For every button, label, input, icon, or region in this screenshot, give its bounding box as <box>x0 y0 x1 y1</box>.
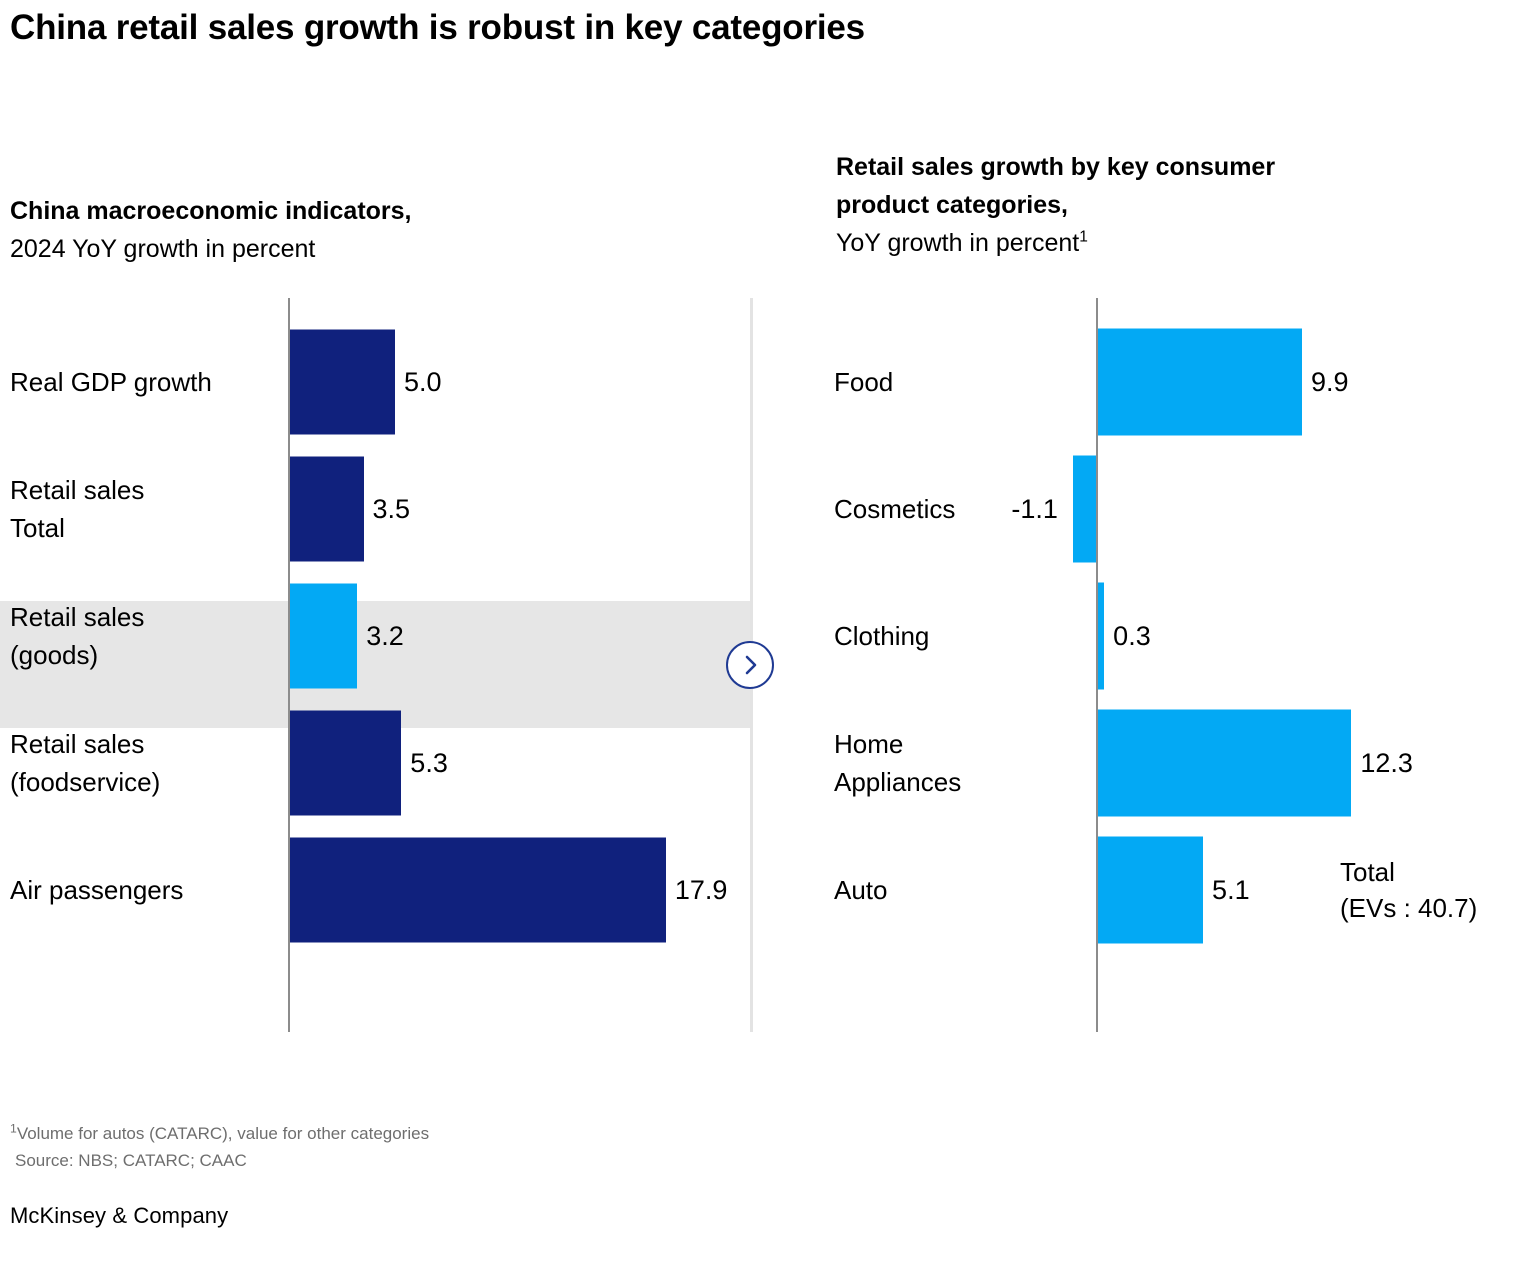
right-chart-heading-bold-line2: product categories, <box>836 186 1456 224</box>
bar <box>1073 455 1096 562</box>
bar <box>290 837 666 942</box>
category-label: Home Appliances <box>834 725 961 801</box>
right-bar-chart: Food9.9Cosmetics-1.1Clothing0.3Home Appl… <box>820 296 1536 1032</box>
bar-value-label: 3.5 <box>373 494 411 524</box>
left-chart-heading: China macroeconomic indicators, 2024 YoY… <box>10 192 630 268</box>
footnote-source: Source: NBS; CATARC; CAAC <box>10 1147 429 1174</box>
left-bar-chart: Real GDP growth5.0Retail sales Total3.5R… <box>0 296 790 1032</box>
bar <box>1098 582 1104 689</box>
chart-row: Home Appliances12.3 <box>820 699 1536 826</box>
page-title: China retail sales growth is robust in k… <box>10 8 865 48</box>
category-label: Retail sales (goods) <box>10 598 144 674</box>
bar-value-label: 3.2 <box>366 621 404 651</box>
bar-value-label: 5.0 <box>404 367 442 397</box>
footnote-note-text: Volume for autos (CATARC), value for oth… <box>17 1124 429 1143</box>
bar-value-label: 9.9 <box>1311 367 1349 397</box>
category-label: Clothing <box>834 617 929 655</box>
chart-row: Retail sales (foodservice)5.3 <box>0 699 790 826</box>
category-label: Cosmetics <box>834 490 955 528</box>
right-chart-heading-footnote-marker: 1 <box>1079 229 1088 246</box>
bar-value-label: 12.3 <box>1360 748 1413 778</box>
left-chart-heading-subtitle: 2024 YoY growth in percent <box>10 230 630 268</box>
bar <box>1098 328 1302 435</box>
chart-row: Cosmetics-1.1 <box>820 445 1536 572</box>
bar <box>290 583 357 688</box>
chart-row: Auto5.1Total(EVs : 40.7) <box>820 826 1536 953</box>
next-chevron-button[interactable] <box>726 641 774 689</box>
bar-value-label: 0.3 <box>1113 621 1151 651</box>
right-chart-heading-subtitle-text: YoY growth in percent <box>836 229 1079 257</box>
right-chart-heading-bold-line1: Retail sales growth by key consumer <box>836 148 1456 186</box>
category-label: Food <box>834 363 893 401</box>
right-chart-heading: Retail sales growth by key consumer prod… <box>836 148 1456 262</box>
footnote-marker: 1 <box>10 1121 17 1135</box>
auto-total-annotation-line1: Total <box>1340 854 1477 890</box>
bar <box>1098 836 1203 943</box>
bar <box>290 710 401 815</box>
category-label: Retail sales Total <box>10 471 144 547</box>
category-label: Air passengers <box>10 871 183 909</box>
auto-total-annotation-line2: (EVs : 40.7) <box>1340 890 1477 926</box>
left-chart-heading-bold: China macroeconomic indicators, <box>10 192 630 230</box>
category-label: Retail sales (foodservice) <box>10 725 160 801</box>
bar-value-label: 5.3 <box>410 748 448 778</box>
bar <box>1098 709 1351 816</box>
mckinsey-logo: McKinsey & Company <box>10 1203 228 1229</box>
chart-row: Food9.9 <box>820 318 1536 445</box>
category-label: Real GDP growth <box>10 363 212 401</box>
chart-row: Clothing0.3 <box>820 572 1536 699</box>
chevron-right-icon <box>728 643 772 687</box>
bar-value-label: 17.9 <box>675 875 728 905</box>
bar <box>290 456 364 561</box>
chart-row: Real GDP growth5.0 <box>0 318 790 445</box>
right-chart-heading-subtitle: YoY growth in percent1 <box>836 224 1456 262</box>
footnote-note: 1Volume for autos (CATARC), value for ot… <box>10 1120 429 1147</box>
bar <box>290 329 395 434</box>
footnotes: 1Volume for autos (CATARC), value for ot… <box>10 1120 429 1174</box>
chart-row: Retail sales (goods)3.2 <box>0 572 790 699</box>
bar-value-label: -1.1 <box>1011 494 1058 524</box>
chart-row: Air passengers17.9 <box>0 826 790 953</box>
category-label: Auto <box>834 871 888 909</box>
bar-value-label: 5.1 <box>1212 875 1250 905</box>
auto-total-annotation: Total(EVs : 40.7) <box>1340 854 1477 926</box>
chart-row: Retail sales Total3.5 <box>0 445 790 572</box>
